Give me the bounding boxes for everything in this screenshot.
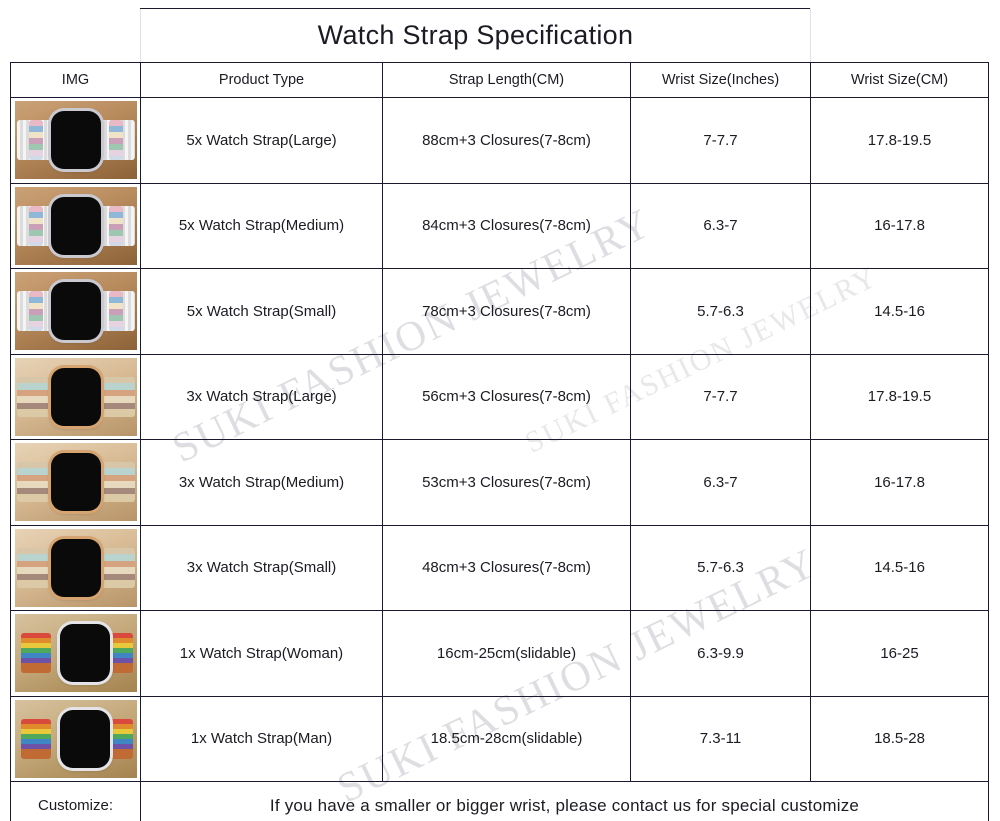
table-row: 3x Watch Strap(Large) 56cm+3 Closures(7-…	[11, 354, 989, 440]
smartwatch-icon	[51, 197, 101, 255]
smartwatch-icon	[60, 710, 110, 768]
bead-accent-right-icon	[109, 120, 123, 160]
watch-strap-specification-table: Watch Strap Specification IMG Product Ty…	[10, 8, 989, 821]
cell-wrist-cm: 16-17.8	[811, 183, 989, 269]
smartwatch-icon	[51, 539, 101, 597]
strap-right-icon	[109, 633, 133, 673]
cell-wrist-inches: 7-7.7	[631, 98, 811, 184]
product-image-cell	[11, 269, 141, 355]
cell-product-type: 1x Watch Strap(Woman)	[141, 611, 383, 697]
table-row: 5x Watch Strap(Large) 88cm+3 Closures(7-…	[11, 98, 989, 184]
title-left-spacer	[11, 9, 141, 63]
cell-wrist-cm: 14.5-16	[811, 269, 989, 355]
smartwatch-icon	[60, 624, 110, 682]
cell-strap-length: 84cm+3 Closures(7-8cm)	[383, 183, 631, 269]
spec-sheet-page: SUKI FASHION JEWELRY SUKI FASHION JEWELR…	[0, 0, 1000, 821]
bead-accent-left-icon	[29, 120, 43, 160]
cell-strap-length: 78cm+3 Closures(7-8cm)	[383, 269, 631, 355]
cell-product-type: 3x Watch Strap(Medium)	[141, 440, 383, 526]
product-image-cell	[11, 525, 141, 611]
table-row: 3x Watch Strap(Small) 48cm+3 Closures(7-…	[11, 525, 989, 611]
column-header-wrist-cm: Wrist Size(CM)	[811, 63, 989, 98]
cell-strap-length: 16cm-25cm(slidable)	[383, 611, 631, 697]
table-row: 1x Watch Strap(Man) 18.5cm-28cm(slidable…	[11, 696, 989, 782]
table-header-row: IMG Product Type Strap Length(CM) Wrist …	[11, 63, 989, 98]
strap-right-icon	[95, 462, 135, 502]
column-header-strap-length: Strap Length(CM)	[383, 63, 631, 98]
smartwatch-icon	[51, 111, 101, 169]
table-row: 5x Watch Strap(Small) 78cm+3 Closures(7-…	[11, 269, 989, 355]
cell-product-type: 5x Watch Strap(Large)	[141, 98, 383, 184]
cell-wrist-inches: 6.3-7	[631, 440, 811, 526]
strap-right-icon	[95, 377, 135, 417]
strap-left-icon	[21, 719, 51, 759]
smartwatch-icon	[51, 282, 101, 340]
product-image-cell	[11, 611, 141, 697]
bead-accent-left-icon	[29, 291, 43, 331]
product-image-cell	[11, 440, 141, 526]
customize-row: Customize: If you have a smaller or bigg…	[11, 782, 989, 821]
product-thumbnail	[14, 442, 138, 522]
cell-wrist-cm: 18.5-28	[811, 696, 989, 782]
cell-wrist-cm: 16-25	[811, 611, 989, 697]
product-image-cell	[11, 98, 141, 184]
strap-right-icon	[109, 719, 133, 759]
page-title: Watch Strap Specification	[141, 9, 811, 63]
cell-wrist-cm: 16-17.8	[811, 440, 989, 526]
product-thumbnail	[14, 100, 138, 180]
bead-accent-left-icon	[29, 206, 43, 246]
cell-wrist-cm: 14.5-16	[811, 525, 989, 611]
cell-product-type: 3x Watch Strap(Large)	[141, 354, 383, 440]
cell-wrist-inches: 7.3-11	[631, 696, 811, 782]
cell-strap-length: 88cm+3 Closures(7-8cm)	[383, 98, 631, 184]
cell-product-type: 5x Watch Strap(Small)	[141, 269, 383, 355]
customize-message: If you have a smaller or bigger wrist, p…	[141, 782, 989, 821]
table-title-row: Watch Strap Specification	[11, 9, 989, 63]
product-thumbnail	[14, 613, 138, 693]
bead-accent-right-icon	[109, 206, 123, 246]
strap-left-icon	[21, 633, 51, 673]
product-thumbnail	[14, 271, 138, 351]
product-thumbnail	[14, 699, 138, 779]
strap-right-icon	[95, 548, 135, 588]
cell-wrist-cm: 17.8-19.5	[811, 354, 989, 440]
cell-wrist-inches: 5.7-6.3	[631, 269, 811, 355]
column-header-img: IMG	[11, 63, 141, 98]
cell-wrist-inches: 5.7-6.3	[631, 525, 811, 611]
table-row: 1x Watch Strap(Woman) 16cm-25cm(slidable…	[11, 611, 989, 697]
cell-wrist-cm: 17.8-19.5	[811, 98, 989, 184]
smartwatch-icon	[51, 453, 101, 511]
cell-strap-length: 18.5cm-28cm(slidable)	[383, 696, 631, 782]
cell-product-type: 5x Watch Strap(Medium)	[141, 183, 383, 269]
table-row: 5x Watch Strap(Medium) 84cm+3 Closures(7…	[11, 183, 989, 269]
cell-wrist-inches: 6.3-7	[631, 183, 811, 269]
product-image-cell	[11, 354, 141, 440]
spec-table-wrapper: Watch Strap Specification IMG Product Ty…	[10, 8, 988, 821]
product-image-cell	[11, 696, 141, 782]
customize-label: Customize:	[11, 782, 141, 821]
title-right-spacer	[811, 9, 989, 63]
product-thumbnail	[14, 528, 138, 608]
product-thumbnail	[14, 186, 138, 266]
product-thumbnail	[14, 357, 138, 437]
cell-wrist-inches: 6.3-9.9	[631, 611, 811, 697]
table-row: 3x Watch Strap(Medium) 53cm+3 Closures(7…	[11, 440, 989, 526]
cell-strap-length: 48cm+3 Closures(7-8cm)	[383, 525, 631, 611]
cell-product-type: 1x Watch Strap(Man)	[141, 696, 383, 782]
column-header-wrist-inches: Wrist Size(Inches)	[631, 63, 811, 98]
smartwatch-icon	[51, 368, 101, 426]
cell-strap-length: 53cm+3 Closures(7-8cm)	[383, 440, 631, 526]
product-image-cell	[11, 183, 141, 269]
bead-accent-right-icon	[109, 291, 123, 331]
cell-product-type: 3x Watch Strap(Small)	[141, 525, 383, 611]
cell-wrist-inches: 7-7.7	[631, 354, 811, 440]
column-header-product-type: Product Type	[141, 63, 383, 98]
cell-strap-length: 56cm+3 Closures(7-8cm)	[383, 354, 631, 440]
